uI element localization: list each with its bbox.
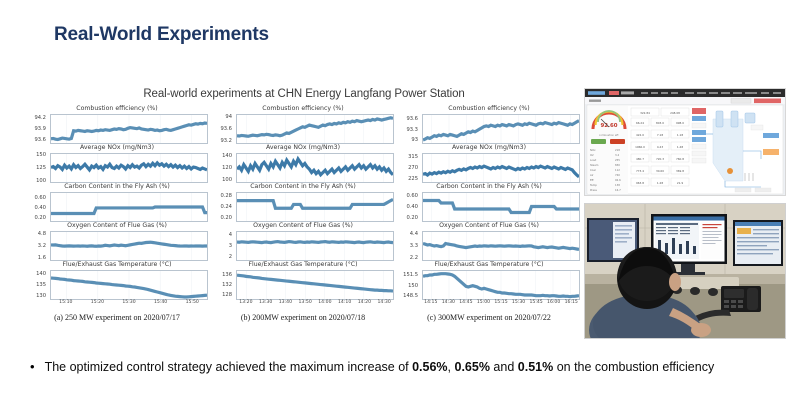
- figure-captions: (a) 250 MW experiment on 2020/07/17 (b) …: [24, 313, 584, 322]
- subplot: Average NOx (mg/Nm3)100125150: [24, 145, 210, 183]
- plot-svg: [237, 154, 393, 182]
- subplot-title: Average NOx (mg/Nm3): [24, 144, 210, 151]
- plot-svg: [423, 232, 579, 260]
- y-axis-ticks: 234: [210, 231, 234, 261]
- bullet-point: • The optimized control strategy achieve…: [30, 358, 745, 376]
- y-axis-ticks: 148.5150151.5: [396, 270, 420, 300]
- caption-b: (b) 200MW experiment on 2020/07/18: [210, 313, 396, 322]
- plot-svg: [51, 232, 207, 260]
- x-tick-label: 14:20: [358, 300, 371, 305]
- y-tick-label: 4.8: [38, 231, 46, 237]
- y-axis-ticks: 100125150: [24, 153, 48, 183]
- plot-svg: [237, 193, 393, 221]
- subplot: Average NOx (mg/Nm3)225270315: [396, 145, 582, 183]
- scada-hmi-screenshot: 92.60 combustion eff. NOx218 O23.4 Load2…: [584, 88, 786, 196]
- svg-text:480.7: 480.7: [636, 157, 644, 161]
- chart-panel-c: Combustion efficiency (%)9393.393.6Avera…: [396, 106, 582, 301]
- subplot: Combustion efficiency (%)93.693.994.2: [24, 106, 210, 144]
- y-tick-label: 3.2: [38, 243, 46, 249]
- svg-text:16.7: 16.7: [615, 188, 621, 192]
- data-series-line: [237, 242, 393, 243]
- y-tick-label: 0.40: [34, 205, 46, 211]
- bullet-suffix: on the combustion efficiency: [553, 360, 714, 374]
- svg-text:21.9: 21.9: [677, 181, 683, 185]
- y-axis-ticks: 0.200.400.60: [396, 192, 420, 222]
- subplot: Oxygen Content of Flue Gas (%)2.23.34.4: [396, 223, 582, 261]
- subplot-title: Carbon Content in the Fly Ash (%): [24, 183, 210, 190]
- plot-svg: [237, 115, 393, 143]
- svg-text:138: 138: [615, 183, 620, 187]
- svg-text:66.24: 66.24: [636, 121, 644, 125]
- x-axis-ticks: 14:1514:3014:4515:0015:1515:3015:4516:00…: [422, 300, 580, 309]
- svg-text:1.18: 1.18: [677, 133, 683, 137]
- subplot: Combustion efficiency (%)93.293.694: [210, 106, 396, 144]
- chart-panel-b: Combustion efficiency (%)93.293.694Avera…: [210, 106, 396, 301]
- svg-text:92.6: 92.6: [615, 178, 621, 182]
- subplot-title: Average NOx (mg/Nm3): [396, 144, 582, 151]
- x-tick-label: 15:30: [122, 300, 135, 305]
- y-tick-label: 0.20: [220, 215, 232, 221]
- y-tick-label: 0.60: [34, 195, 46, 201]
- svg-text:Press: Press: [590, 188, 597, 192]
- caption-c: (c) 300MW experiment on 2020/07/22: [396, 313, 582, 322]
- plot-svg: [51, 193, 207, 221]
- x-tick-label: 14:00: [318, 300, 331, 305]
- y-tick-label: 0.60: [406, 193, 418, 199]
- svg-text:Temp: Temp: [590, 183, 597, 187]
- y-tick-label: 94: [225, 114, 232, 120]
- y-axis-ticks: 2.23.34.4: [396, 231, 420, 261]
- y-tick-label: 0.28: [220, 193, 232, 199]
- increase-value-b: 0.65%: [455, 360, 490, 374]
- y-tick-label: 0.40: [406, 204, 418, 210]
- x-tick-label: 15:40: [154, 300, 167, 305]
- subplot-body: 100120140: [210, 153, 394, 183]
- y-axis-ticks: 93.693.994.2: [24, 114, 48, 144]
- plot-area: [422, 153, 580, 183]
- plot-svg: [237, 232, 393, 260]
- plot-area: [236, 114, 394, 144]
- y-tick-label: 150: [36, 152, 46, 158]
- plot-area: [236, 192, 394, 222]
- subplot: Carbon Content in the Fly Ash (%)0.200.4…: [396, 184, 582, 222]
- subplot-stack: Combustion efficiency (%)9393.393.6Avera…: [396, 106, 582, 301]
- subplot-title: Flue/Exhaust Gas Temperature (°C): [396, 261, 582, 268]
- svg-text:422.0: 422.0: [636, 133, 644, 137]
- plot-area: [50, 153, 208, 183]
- svg-text:Steam: Steam: [590, 163, 599, 167]
- y-tick-label: 136: [222, 272, 232, 278]
- svg-text:1.48: 1.48: [677, 145, 683, 149]
- subplot-body: 100125150: [24, 153, 208, 183]
- y-axis-ticks: 0.200.240.28: [210, 192, 234, 222]
- y-tick-label: 4: [229, 232, 232, 238]
- x-tick-label: 13:50: [299, 300, 312, 305]
- y-axis-ticks: 1.63.24.8: [24, 231, 48, 261]
- y-tick-label: 3: [229, 243, 232, 249]
- plot-svg: [423, 193, 579, 221]
- y-tick-label: 315: [408, 154, 418, 160]
- y-tick-label: 0.20: [406, 215, 418, 221]
- plot-area: [50, 270, 208, 300]
- svg-text:1.28: 1.28: [657, 181, 663, 185]
- plot-svg: [51, 271, 207, 299]
- y-tick-label: 120: [222, 165, 232, 171]
- bullet-text: The optimized control strategy achieved …: [45, 358, 715, 376]
- y-tick-label: 93.6: [34, 137, 46, 143]
- y-tick-label: 93.3: [406, 127, 418, 133]
- bullet-sep-2: and: [490, 360, 518, 374]
- y-tick-label: 2: [229, 254, 232, 260]
- x-tick-label: 16:00: [547, 300, 560, 305]
- svg-text:248.08: 248.08: [670, 111, 680, 115]
- y-tick-label: 128: [222, 292, 232, 298]
- plot-svg: [237, 271, 393, 299]
- y-axis-ticks: 130135140: [24, 270, 48, 300]
- y-tick-label: 93.6: [220, 126, 232, 132]
- plot-area: [236, 270, 394, 300]
- subplot: Carbon Content in the Fly Ash (%)0.200.4…: [24, 184, 210, 222]
- plot-area: [422, 114, 580, 144]
- plot-area: [236, 153, 394, 183]
- y-axis-ticks: 93.293.694: [210, 114, 234, 144]
- experiments-figure: Real-world experiments at CHN Energy Lan…: [24, 88, 584, 338]
- y-tick-label: 270: [408, 165, 418, 171]
- subplot-title: Average NOx (mg/Nm3): [210, 144, 396, 151]
- y-tick-label: 93: [411, 137, 418, 143]
- svg-text:322.84: 322.84: [640, 111, 650, 115]
- hmi-illustration: 92.60 combustion eff. NOx218 O23.4 Load2…: [585, 89, 785, 195]
- y-tick-label: 150: [408, 283, 418, 289]
- subplot-title: Combustion efficiency (%): [210, 105, 396, 112]
- subplot: Flue/Exhaust Gas Temperature (°C)1301351…: [24, 262, 210, 300]
- svg-text:92.60: 92.60: [600, 123, 617, 129]
- y-tick-label: 0.24: [220, 204, 232, 210]
- plot-svg: [423, 154, 579, 182]
- y-tick-label: 93.6: [406, 116, 418, 122]
- y-tick-label: 2.2: [410, 255, 418, 261]
- subplot-body: 2.23.34.4: [396, 231, 580, 261]
- x-tick-label: 15:10: [59, 300, 72, 305]
- svg-text:1966.0: 1966.0: [635, 145, 645, 149]
- slide-canvas: Real-World Experiments Real-world experi…: [0, 0, 795, 400]
- subplot-body: 0.200.400.60: [396, 192, 580, 222]
- plot-area: [50, 114, 208, 144]
- subplot-title: Flue/Exhaust Gas Temperature (°C): [24, 261, 210, 268]
- svg-text:369.8: 369.8: [676, 169, 684, 173]
- y-tick-label: 148.5: [403, 293, 418, 299]
- svg-text:7.18: 7.18: [657, 133, 663, 137]
- svg-text:760.8: 760.8: [676, 157, 684, 161]
- y-tick-label: 135: [36, 282, 46, 288]
- subplot-title: Oxygen Content of Flue Gas (%): [24, 222, 210, 229]
- svg-text:O2: O2: [590, 153, 594, 157]
- subplot: Flue/Exhaust Gas Temperature (°C)148.515…: [396, 262, 582, 300]
- subplot-body: 234: [210, 231, 394, 261]
- subplot-title: Flue/Exhaust Gas Temperature (°C): [210, 261, 396, 268]
- plot-area: [50, 192, 208, 222]
- y-axis-ticks: 9393.393.6: [396, 114, 420, 144]
- subplot: Average NOx (mg/Nm3)100120140: [210, 145, 396, 183]
- x-tick-label: 14:10: [338, 300, 351, 305]
- x-tick-label: 15:20: [91, 300, 104, 305]
- plot-svg: [51, 115, 207, 143]
- x-tick-label: 13:40: [279, 300, 292, 305]
- data-series-line: [237, 275, 393, 291]
- plot-area: [422, 270, 580, 300]
- y-tick-label: 151.5: [403, 272, 418, 278]
- svg-text:NOx: NOx: [590, 148, 596, 152]
- plot-area: [236, 231, 394, 261]
- y-tick-label: 125: [36, 165, 46, 171]
- x-tick-label: 15:45: [529, 300, 542, 305]
- x-tick-label: 13:30: [259, 300, 272, 305]
- y-axis-ticks: 100120140: [210, 153, 234, 183]
- svg-text:4.43: 4.43: [657, 145, 663, 149]
- y-tick-label: 132: [222, 282, 232, 288]
- y-tick-label: 140: [36, 271, 46, 277]
- x-tick-label: 14:30: [378, 300, 391, 305]
- svg-text:3.4: 3.4: [615, 153, 619, 157]
- x-tick-label: 14:30: [442, 300, 455, 305]
- y-tick-label: 3.3: [410, 243, 418, 249]
- subplot-title: Carbon Content in the Fly Ash (%): [210, 183, 396, 190]
- plot-area: [50, 231, 208, 261]
- subplot-title: Oxygen Content of Flue Gas (%): [396, 222, 582, 229]
- subplot: Oxygen Content of Flue Gas (%)234: [210, 223, 396, 261]
- plot-svg: [51, 154, 207, 182]
- subplot-title: Carbon Content in the Fly Ash (%): [396, 183, 582, 190]
- subplot-body: 0.200.240.28: [210, 192, 394, 222]
- figure-title: Real-world experiments at CHN Energy Lan…: [24, 88, 584, 100]
- plot-area: [422, 231, 580, 261]
- y-tick-label: 93.9: [34, 126, 46, 132]
- subplot-body: 225270315: [396, 153, 580, 183]
- svg-text:combustion eff.: combustion eff.: [599, 133, 619, 137]
- y-tick-label: 0.20: [34, 215, 46, 221]
- subplot-body: 1.63.24.8: [24, 231, 208, 261]
- data-series-line: [237, 199, 393, 208]
- y-tick-label: 94.2: [34, 115, 46, 121]
- subplot: Combustion efficiency (%)9393.393.6: [396, 106, 582, 144]
- operator-illustration: [585, 204, 785, 338]
- page-title: Real-World Experiments: [54, 24, 269, 46]
- svg-text:255: 255: [615, 158, 620, 162]
- svg-text:Coal: Coal: [590, 168, 596, 172]
- caption-a: (a) 250 MW experiment on 2020/07/17: [24, 313, 210, 322]
- subplot-title: Combustion efficiency (%): [396, 105, 582, 112]
- subplot: Oxygen Content of Flue Gas (%)1.63.24.8: [24, 223, 210, 261]
- subplot-title: Combustion efficiency (%): [24, 105, 210, 112]
- x-tick-label: 15:50: [186, 300, 199, 305]
- svg-text:30.60: 30.60: [656, 169, 664, 173]
- subplot-title: Oxygen Content of Flue Gas (%): [210, 222, 396, 229]
- data-series-line: [237, 118, 393, 136]
- svg-text:740: 740: [615, 173, 620, 177]
- x-tick-label: 14:15: [424, 300, 437, 305]
- svg-text:803.0: 803.0: [656, 121, 664, 125]
- subplot-body: 148.5150151.514:1514:3014:4515:0015:1515…: [396, 270, 580, 300]
- x-tick-label: 16:15: [565, 300, 578, 305]
- subplot-stack: Combustion efficiency (%)93.293.694Avera…: [210, 106, 396, 301]
- y-tick-label: 140: [222, 153, 232, 159]
- y-tick-label: 225: [408, 176, 418, 182]
- svg-text:Eff.: Eff.: [590, 178, 594, 182]
- chart-panel-a: Combustion efficiency (%)93.693.994.2Ave…: [24, 106, 210, 301]
- subplot-body: 0.200.400.60: [24, 192, 208, 222]
- y-axis-ticks: 128132136: [210, 270, 234, 300]
- svg-text:830: 830: [615, 163, 620, 167]
- control-room-operator-photo: [584, 203, 786, 339]
- subplot-body: 93.693.994.2: [24, 114, 208, 144]
- subplot: Carbon Content in the Fly Ash (%)0.200.2…: [210, 184, 396, 222]
- subplot-body: 13013514015:1015:2015:3015:4015:50: [24, 270, 208, 300]
- chart-panels: Combustion efficiency (%)93.693.994.2Ave…: [24, 106, 584, 301]
- y-axis-ticks: 0.200.400.60: [24, 192, 48, 222]
- svg-text:720.3: 720.3: [656, 157, 664, 161]
- subplot: Flue/Exhaust Gas Temperature (°C)1281321…: [210, 262, 396, 300]
- subplot-body: 9393.393.6: [396, 114, 580, 144]
- plot-area: [422, 192, 580, 222]
- subplot-body: 93.293.694: [210, 114, 394, 144]
- svg-text:773.4: 773.4: [636, 169, 644, 173]
- x-tick-label: 14:45: [459, 300, 472, 305]
- plot-svg: [423, 115, 579, 143]
- x-axis-ticks: 13:2013:3013:4013:5014:0014:1014:2014:30: [236, 300, 394, 309]
- svg-text:998.0: 998.0: [676, 121, 684, 125]
- svg-text:Load: Load: [590, 158, 597, 162]
- bullet-prefix: The optimized control strategy achieved …: [45, 360, 413, 374]
- bullet-sep-1: ,: [448, 360, 455, 374]
- increase-value-c: 0.51%: [518, 360, 553, 374]
- svg-text:218: 218: [615, 148, 620, 152]
- y-tick-label: 4.4: [410, 231, 418, 237]
- subplot-body: 12813213613:2013:3013:4013:5014:0014:101…: [210, 270, 394, 300]
- svg-text:963.8: 963.8: [636, 181, 644, 185]
- y-tick-label: 130: [36, 293, 46, 299]
- x-axis-ticks: 15:1015:2015:3015:4015:50: [50, 300, 208, 309]
- plot-svg: [423, 271, 579, 299]
- x-tick-label: 15:00: [477, 300, 490, 305]
- x-tick-label: 13:20: [239, 300, 252, 305]
- data-series-line: [237, 159, 393, 175]
- subplot-stack: Combustion efficiency (%)93.693.994.2Ave…: [24, 106, 210, 301]
- svg-text:112: 112: [615, 168, 620, 172]
- bullet-marker: •: [30, 358, 35, 376]
- x-tick-label: 15:15: [494, 300, 507, 305]
- y-axis-ticks: 225270315: [396, 153, 420, 183]
- increase-value-a: 0.56%: [412, 360, 447, 374]
- x-tick-label: 15:30: [512, 300, 525, 305]
